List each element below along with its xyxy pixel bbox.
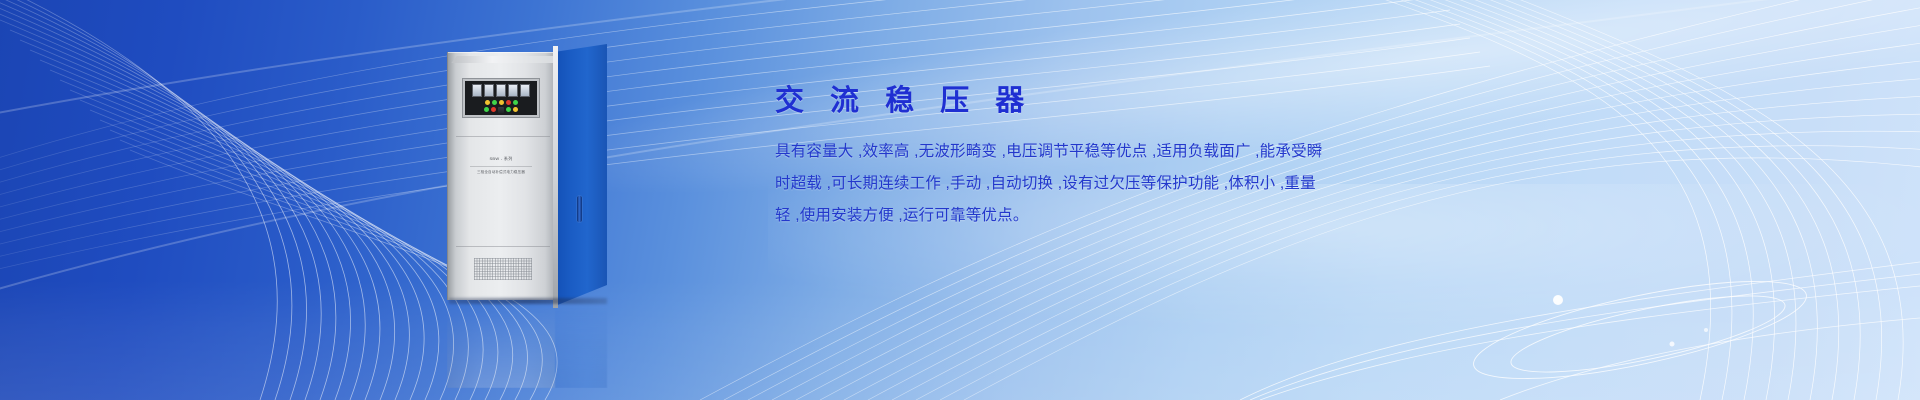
indicator-lamp-row-1 — [468, 100, 534, 105]
indicator-lamp-red — [506, 100, 511, 105]
meter-row — [468, 84, 534, 97]
product-description: 具有容量大 ,效率高 ,无波形畸变 ,电压调节平稳等优点 ,适用负载面广 ,能承… — [775, 136, 1435, 232]
nameplate-subtitle-text: 三相全自动补偿式电力稳压器 — [470, 166, 532, 175]
description-line: 轻 ,使用安装方便 ,运行可靠等优点。 — [775, 200, 1435, 232]
floor-reflection-sheen — [0, 280, 1920, 400]
indicator-lamp-yellow — [513, 107, 518, 112]
banner-copy-block: 交 流 稳 压 器 具有容量大 ,效率高 ,无波形畸变 ,电压调节平稳等优点 ,… — [775, 82, 1435, 232]
control-switch-knob — [498, 107, 504, 113]
meter-display — [484, 84, 494, 97]
description-line: 具有容量大 ,效率高 ,无波形畸变 ,电压调节平稳等优点 ,适用负载面广 ,能承… — [775, 136, 1435, 168]
indicator-lamp-green — [506, 107, 511, 112]
indicator-lamp-row-2 — [468, 107, 534, 113]
indicator-lamp-yellow — [499, 100, 504, 105]
control-panel — [462, 78, 540, 118]
indicator-lamp-yellow — [485, 100, 490, 105]
indicator-lamp-green — [484, 107, 489, 112]
cabinet-door-handle — [577, 196, 582, 222]
meter-display — [508, 84, 518, 97]
cabinet-top-cap — [448, 56, 558, 63]
ventilation-grille — [474, 258, 532, 280]
cabinet-base-shadow — [449, 298, 607, 304]
accent-dot-icon — [1553, 295, 1563, 305]
description-line: 时超载 ,可长期连续工作 ,手动 ,自动切换 ,设有过欠压等保护功能 ,体积小 … — [775, 168, 1435, 200]
meter-display — [472, 84, 482, 97]
indicator-lamp-green — [492, 100, 497, 105]
cabinet-corner-edge — [553, 46, 558, 308]
meter-display — [520, 84, 530, 97]
product-floor-reflection — [447, 302, 615, 388]
cabinet-front-panel: SBW - 系列 三相全自动补偿式电力稳压器 — [447, 52, 556, 300]
indicator-lamp-red — [491, 107, 496, 112]
meter-display — [496, 84, 506, 97]
indicator-lamp-green — [513, 100, 518, 105]
nameplate-model-text: SBW - 系列 — [470, 156, 532, 162]
product-hero-banner: SBW - 系列 三相全自动补偿式电力稳压器 交 流 稳 压 器 具有容量大 ,… — [0, 0, 1920, 400]
cabinet-panel-seam — [456, 136, 550, 137]
cabinet-panel-seam — [456, 246, 550, 247]
page-title: 交 流 稳 压 器 — [775, 82, 1435, 120]
cabinet-nameplate: SBW - 系列 三相全自动补偿式电力稳压器 — [470, 156, 532, 175]
product-image-voltage-stabilizer: SBW - 系列 三相全自动补偿式电力稳压器 — [447, 44, 615, 302]
cabinet-side-panel — [555, 44, 607, 306]
